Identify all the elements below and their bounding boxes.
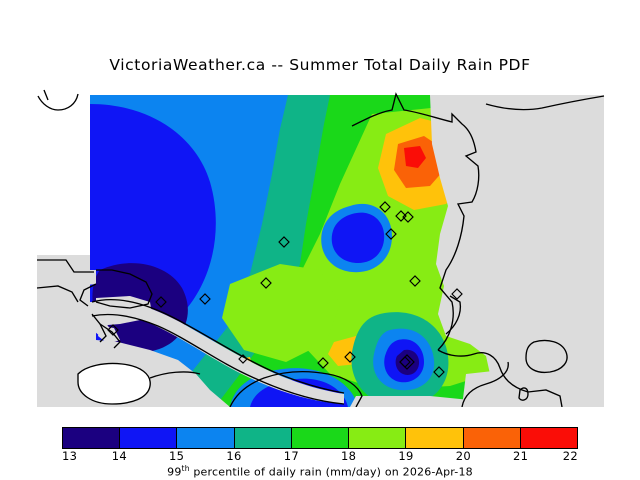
colorbar: 13141516171819202122 99th percentile of … bbox=[62, 427, 578, 475]
colorbar-segment-20-21[interactable] bbox=[464, 428, 521, 448]
caption-percentile-number: 99 bbox=[167, 466, 181, 479]
colorbar-tick-17: 17 bbox=[284, 449, 299, 463]
colorbar-tick-14: 14 bbox=[112, 449, 127, 463]
screenshot-root: VictoriaWeather.ca -- Summer Total Daily… bbox=[0, 0, 640, 480]
colorbar-segment-15-16[interactable] bbox=[177, 428, 234, 448]
colorbar-tick-20: 20 bbox=[456, 449, 471, 463]
colorbar-segment-14-15[interactable] bbox=[120, 428, 177, 448]
colorbar-segment-21-22[interactable] bbox=[521, 428, 577, 448]
colorbar-tick-18: 18 bbox=[341, 449, 356, 463]
colorbar-segment-16-17[interactable] bbox=[235, 428, 292, 448]
colorbar-tick-21: 21 bbox=[513, 449, 528, 463]
colorbar-tick-16: 16 bbox=[226, 449, 241, 463]
colorbar-tick-15: 15 bbox=[169, 449, 184, 463]
colorbar-caption: 99th percentile of daily rain (mm/day) o… bbox=[62, 464, 578, 479]
contour-map-svg[interactable] bbox=[0, 74, 640, 407]
colorbar-tick-labels: 13141516171819202122 bbox=[62, 449, 578, 465]
caption-percentile-suffix: th bbox=[182, 464, 190, 473]
colorbar-tick-22: 22 bbox=[563, 449, 578, 463]
colorbar-segment-17-18[interactable] bbox=[292, 428, 349, 448]
colorbar-tick-19: 19 bbox=[398, 449, 413, 463]
colorbar-segment-13-14[interactable] bbox=[63, 428, 120, 448]
colorbar-segment-19-20[interactable] bbox=[406, 428, 463, 448]
colorbar-gradient[interactable] bbox=[62, 427, 578, 449]
caption-rest: percentile of daily rain (mm/day) on 202… bbox=[190, 466, 473, 479]
page-title: VictoriaWeather.ca -- Summer Total Daily… bbox=[0, 56, 640, 74]
map-plot-area[interactable] bbox=[0, 74, 640, 407]
colorbar-tick-13: 13 bbox=[62, 449, 77, 463]
colorbar-segment-18-19[interactable] bbox=[349, 428, 406, 448]
